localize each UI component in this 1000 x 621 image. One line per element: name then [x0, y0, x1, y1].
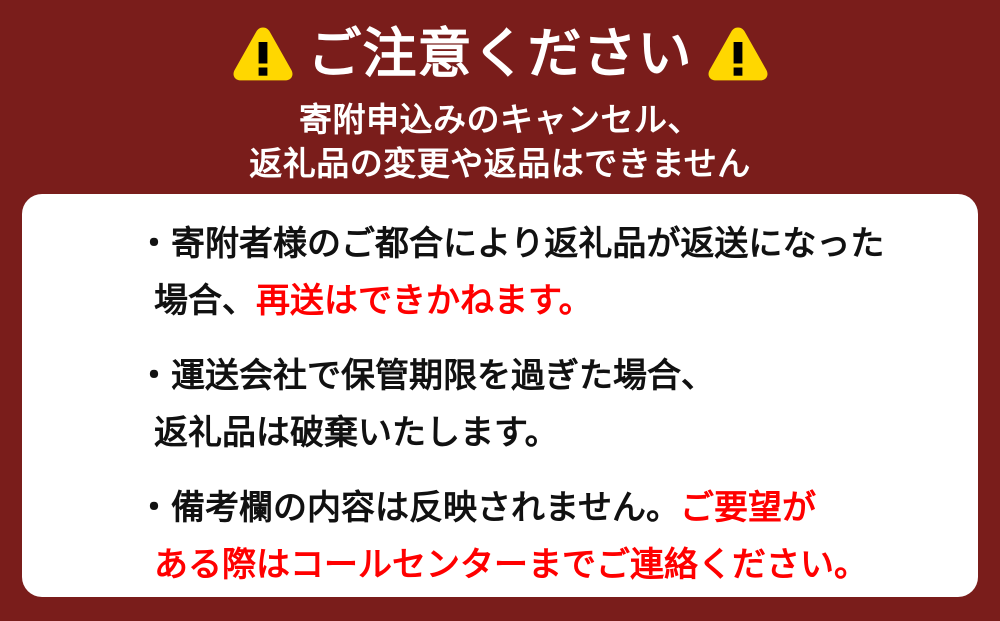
notice-item: ・運送会社で保管期限を過ぎた場合、返礼品は破棄いたします。 — [137, 348, 957, 462]
bullet-marker: ・ — [137, 225, 171, 263]
notice-text: 場合、 — [154, 282, 256, 320]
warning-triangle-icon — [707, 25, 769, 83]
notice-emphasis-text: ご要望が — [680, 489, 816, 527]
title-row: ご注意ください — [0, 18, 1000, 90]
notice-line: 返礼品は破棄いたします。 — [137, 405, 957, 462]
banner-header: ご注意ください 寄附申込みのキャンセル、 返礼品の変更や返品はできません — [0, 0, 1000, 194]
warning-banner: ご注意ください 寄附申込みのキャンセル、 返礼品の変更や返品はできません ・寄附… — [0, 0, 1000, 621]
notice-item: ・備考欄の内容は反映されません。ご要望がある際はコールセンターまでご連絡ください… — [137, 480, 957, 594]
notice-text: 返礼品は破棄いたします。 — [154, 414, 559, 452]
notice-line: ある際はコールセンターまでご連絡ください。 — [137, 537, 957, 594]
notice-line: ・備考欄の内容は反映されません。ご要望が — [137, 480, 957, 537]
bullet-marker: ・ — [137, 357, 171, 395]
notice-card: ・寄附者様のご都合により返礼品が返送になった場合、再送はできかねます。・運送会社… — [22, 194, 978, 597]
subtitle-line: 返礼品の変更や返品はできません — [0, 142, 1000, 186]
notice-line: ・寄附者様のご都合により返礼品が返送になった — [137, 216, 957, 273]
warning-triangle-icon — [232, 25, 294, 83]
banner-subtitle: 寄附申込みのキャンセル、 返礼品の変更や返品はできません — [0, 98, 1000, 186]
notice-emphasis-text: ある際はコールセンターまでご連絡ください。 — [154, 546, 868, 584]
page-title: ご注意ください — [308, 27, 693, 81]
notice-item: ・寄附者様のご都合により返礼品が返送になった場合、再送はできかねます。 — [137, 216, 957, 330]
bullet-marker: ・ — [137, 489, 171, 527]
notice-text: 運送会社で保管期限を過ぎた場合、 — [171, 357, 715, 395]
notice-text: 備考欄の内容は反映されません。 — [171, 489, 680, 527]
subtitle-line: 寄附申込みのキャンセル、 — [0, 98, 1000, 142]
notice-emphasis-text: 再送はできかねます。 — [256, 282, 593, 320]
notice-list: ・寄附者様のご都合により返礼品が返送になった場合、再送はできかねます。・運送会社… — [137, 216, 957, 594]
notice-line: 場合、再送はできかねます。 — [137, 273, 957, 330]
notice-text: 寄附者様のご都合により返礼品が返送になった — [171, 225, 884, 263]
notice-line: ・運送会社で保管期限を過ぎた場合、 — [137, 348, 957, 405]
